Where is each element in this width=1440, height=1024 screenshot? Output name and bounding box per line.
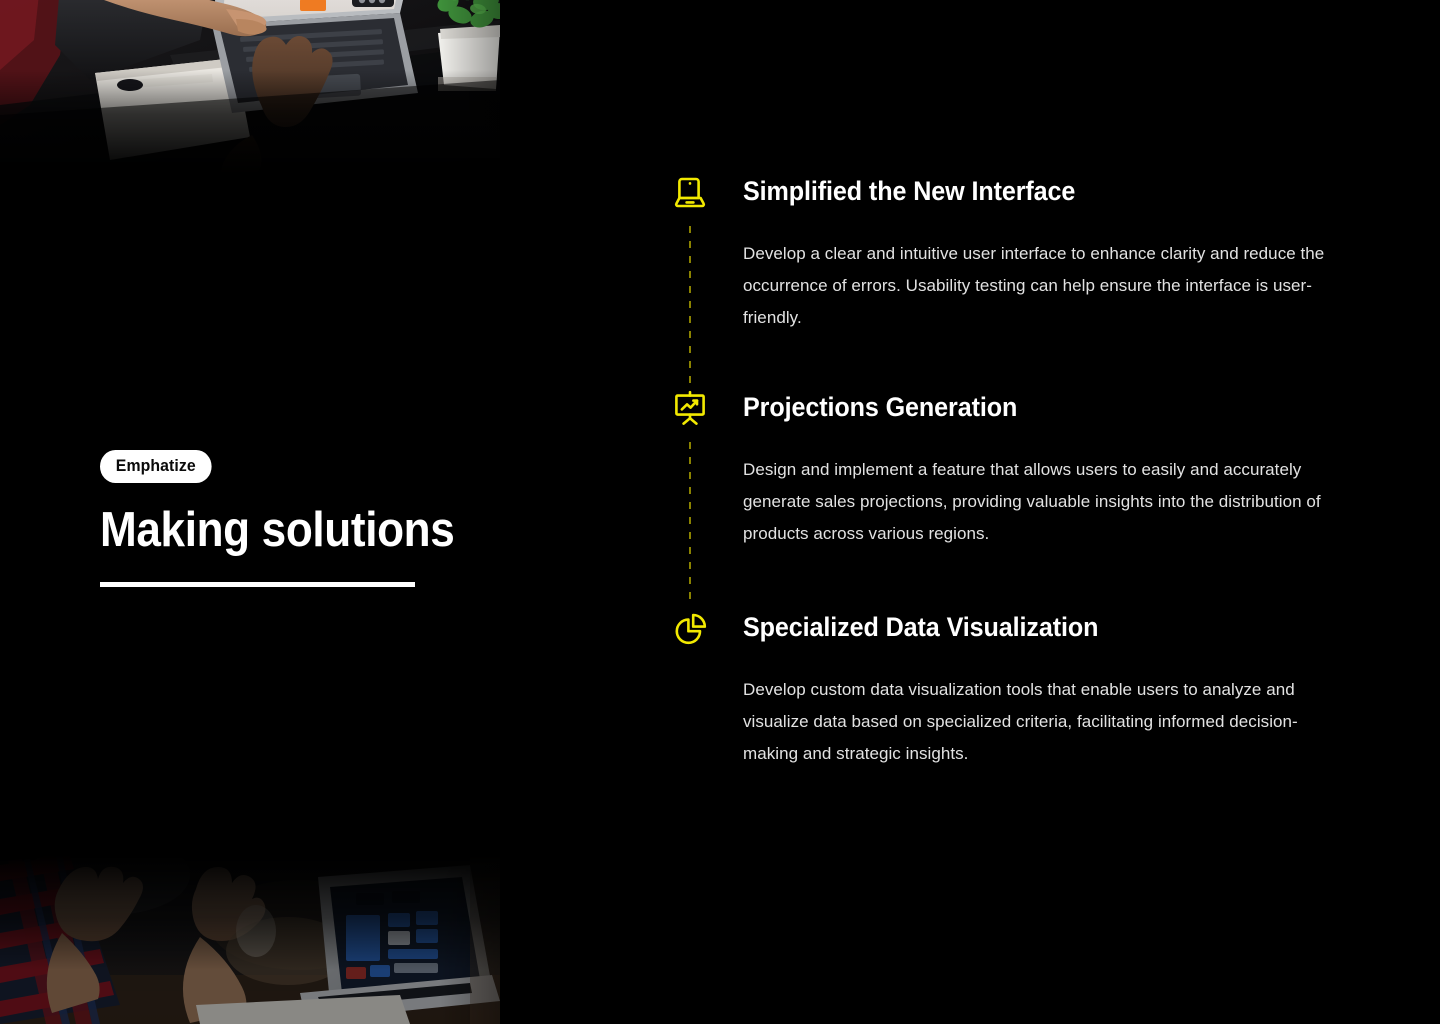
photo-bottom — [0, 855, 500, 1024]
feature-body: Develop a clear and intuitive user inter… — [666, 216, 1366, 384]
photo-top-right-fade — [440, 0, 500, 175]
laptop-icon — [666, 168, 714, 216]
feature-item: Projections Generation Design and implem… — [666, 384, 1366, 604]
title-underline — [100, 582, 415, 587]
photo-bottom-fade — [0, 855, 500, 970]
presentation-slide: Emphatize Making solutions Simplified th… — [0, 0, 1440, 1024]
title-block: Emphatize Making solutions — [100, 450, 500, 587]
feature-description: Develop custom data visualization tools … — [743, 674, 1343, 770]
dashed-connector — [689, 442, 691, 604]
feature-header: Projections Generation — [666, 384, 1366, 432]
feature-description: Design and implement a feature that allo… — [743, 454, 1343, 550]
photo-top — [0, 0, 500, 175]
feature-title: Simplified the New Interface — [743, 177, 1075, 207]
pie-chart-icon — [666, 604, 714, 652]
feature-description: Develop a clear and intuitive user inter… — [743, 238, 1343, 334]
feature-item: Specialized Data Visualization Develop c… — [666, 604, 1366, 772]
feature-item: Simplified the New Interface Develop a c… — [666, 168, 1366, 384]
page-title: Making solutions — [100, 505, 460, 556]
feature-list: Simplified the New Interface Develop a c… — [666, 168, 1366, 772]
feature-title: Specialized Data Visualization — [743, 613, 1098, 643]
feature-title: Projections Generation — [743, 393, 1017, 423]
feature-body: Develop custom data visualization tools … — [666, 652, 1366, 772]
feature-body: Design and implement a feature that allo… — [666, 432, 1366, 604]
feature-header: Specialized Data Visualization — [666, 604, 1366, 652]
dashed-connector — [689, 226, 691, 384]
feature-header: Simplified the New Interface — [666, 168, 1366, 216]
photo-bottom-right-fade — [440, 855, 500, 1024]
photo-top-fade — [0, 70, 500, 175]
section-badge: Emphatize — [100, 450, 212, 483]
presentation-chart-icon — [666, 384, 714, 432]
